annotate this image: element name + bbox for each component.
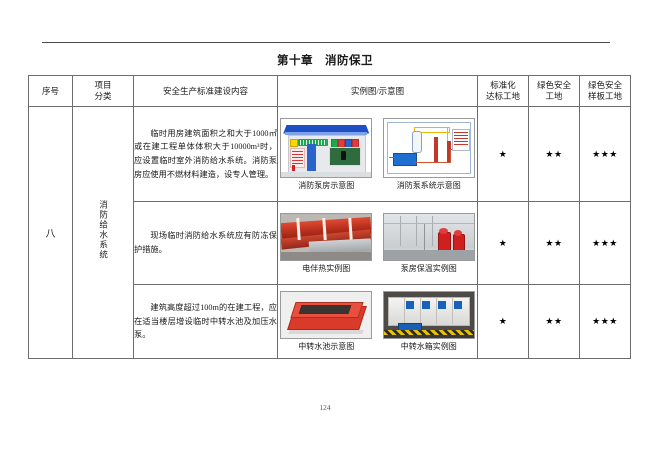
cell-images-3: 中转水池示意图 xyxy=(278,285,478,359)
header-cell-category: 项目 分类 xyxy=(73,76,134,107)
content-text-1: 临时用房建筑面积之和大于1000㎡或在建工程单体体积大于10000m³时，应设置… xyxy=(134,127,277,181)
figure-pump-system: 消防泵系统示意图 xyxy=(383,118,475,191)
pump-system-schematic xyxy=(383,118,475,178)
schematic-vessel xyxy=(412,131,422,153)
header-category-line2: 分类 xyxy=(73,91,133,102)
page-title: 第十章 消防保卫 xyxy=(0,52,650,68)
floor-strip xyxy=(384,335,474,338)
cell-rate3-row2: ★★★ xyxy=(580,202,631,285)
table-body: 八 消防给水系统 临时用房建筑面积之和大于1000㎡或在建工程单体体积大于100… xyxy=(29,107,631,359)
header-rule xyxy=(42,42,610,43)
header-rate1-line2: 达标工地 xyxy=(478,91,528,102)
cell-images-1: 消防泵房示意图 xyxy=(278,107,478,202)
cell-rate2-row2: ★★ xyxy=(529,202,580,285)
figure-insulated-pump-room: 泵房保温实例图 xyxy=(383,213,475,274)
header-rate2-line2: 工地 xyxy=(529,91,579,102)
header-rate3-line2: 样板工地 xyxy=(580,91,630,102)
header-cell-rate2: 绿色安全 工地 xyxy=(529,76,580,107)
schematic-pipe xyxy=(415,162,451,163)
tank-marking xyxy=(406,301,414,309)
header-cell-images: 实例图/示意图 xyxy=(278,76,478,107)
cell-group-category: 消防给水系统 xyxy=(73,107,134,359)
header-category-line1: 项目 xyxy=(73,80,133,91)
pool-water-surface xyxy=(299,305,352,314)
fire-extinguisher-icon xyxy=(292,165,295,171)
schematic-pipe xyxy=(450,149,451,163)
figure-heat-trace: 电伴热实例图 xyxy=(280,213,372,274)
cell-content-1: 临时用房建筑面积之和大于1000㎡或在建工程单体体积大于10000m³时，应设置… xyxy=(134,107,278,202)
header-rate3-line1: 绿色安全 xyxy=(580,80,630,91)
insulated-pump-room-photo xyxy=(383,213,475,261)
tank-marking xyxy=(454,301,462,309)
content-text-2: 现场临时消防给水系统应有防冻保护措施。 xyxy=(134,229,277,256)
cell-content-2: 现场临时消防给水系统应有防冻保护措施。 xyxy=(134,202,278,285)
figure-caption: 消防泵系统示意图 xyxy=(397,180,461,191)
heat-trace-photo xyxy=(280,213,372,261)
figure-caption: 中转水池示意图 xyxy=(298,341,354,352)
display-board xyxy=(329,147,361,166)
red-pump xyxy=(438,232,451,252)
header-cell-rate3: 绿色安全 样板工地 xyxy=(580,76,631,107)
figure-pump-house: 消防泵房示意图 xyxy=(280,118,372,191)
cell-images-2: 电伴热实例图 xyxy=(278,202,478,285)
cell-group-seq: 八 xyxy=(29,107,73,359)
transfer-pool-illustration xyxy=(280,291,372,339)
cell-rate2-row1: ★★ xyxy=(529,107,580,202)
header-cell-seq: 序号 xyxy=(29,76,73,107)
cell-rate1-row2: ★ xyxy=(478,202,529,285)
tank-marking xyxy=(438,301,446,309)
cell-content-3: 建筑高度超过100m的在建工程，应在适当楼层增设临时中转水池及加压水泵。 xyxy=(134,285,278,359)
table-row: 八 消防给水系统 临时用房建筑面积之和大于1000㎡或在建工程单体体积大于100… xyxy=(29,107,631,202)
cell-rate1-row3: ★ xyxy=(478,285,529,359)
figure-caption: 中转水箱实例图 xyxy=(401,341,457,352)
figure-caption: 消防泵房示意图 xyxy=(298,180,354,191)
table-header: 序号 项目 分类 安全生产标准建设内容 实例图/示意图 标准化 达标工地 绿色安… xyxy=(29,76,631,107)
cell-rate2-row3: ★★ xyxy=(529,285,580,359)
cell-rate3-row1: ★★★ xyxy=(580,107,631,202)
figure-transfer-tank: 中转水箱实例图 xyxy=(383,291,475,352)
warning-sign-icon xyxy=(290,139,298,147)
schematic-pipe xyxy=(389,157,395,158)
floor-strip xyxy=(384,250,474,260)
figure-caption: 泵房保温实例图 xyxy=(401,263,457,274)
floor-strip xyxy=(281,252,371,260)
entrance-door xyxy=(307,144,316,171)
content-text-3: 建筑高度超过100m的在建工程，应在适当楼层增设临时中转水池及加压水泵。 xyxy=(134,301,277,342)
header-cell-content: 安全生产标准建设内容 xyxy=(134,76,278,107)
schematic-manifold xyxy=(452,129,470,151)
schematic-column-1 xyxy=(434,137,438,163)
ground-strip xyxy=(281,172,371,177)
header-rate1-line1: 标准化 xyxy=(478,80,528,91)
red-pump-cap xyxy=(454,230,462,236)
header-cell-rate1: 标准化 达标工地 xyxy=(478,76,529,107)
page-number: 124 xyxy=(0,403,650,412)
red-pump-cap xyxy=(439,228,448,234)
tank-marking xyxy=(422,301,430,309)
pipe-vertical xyxy=(424,224,425,250)
header-rate2-line1: 绿色安全 xyxy=(529,80,579,91)
standards-table: 序号 项目 分类 安全生产标准建设内容 实例图/示意图 标准化 达标工地 绿色安… xyxy=(28,75,631,359)
document-page: 第十章 消防保卫 序号 项目 分类 安全生产标准建设内容 实例图/示意图 标准化… xyxy=(0,0,650,459)
table-header-row: 序号 项目 分类 安全生产标准建设内容 实例图/示意图 标准化 达标工地 绿色安… xyxy=(29,76,631,107)
pump-house-illustration xyxy=(280,118,372,178)
figure-transfer-pool: 中转水池示意图 xyxy=(280,291,372,352)
transfer-tank-photo xyxy=(383,291,475,339)
cell-rate3-row3: ★★★ xyxy=(580,285,631,359)
category-vertical-label: 消防给水系统 xyxy=(96,200,109,260)
schematic-water-tank xyxy=(393,153,417,166)
cell-rate1-row1: ★ xyxy=(478,107,529,202)
figure-caption: 电伴热实例图 xyxy=(302,263,350,274)
